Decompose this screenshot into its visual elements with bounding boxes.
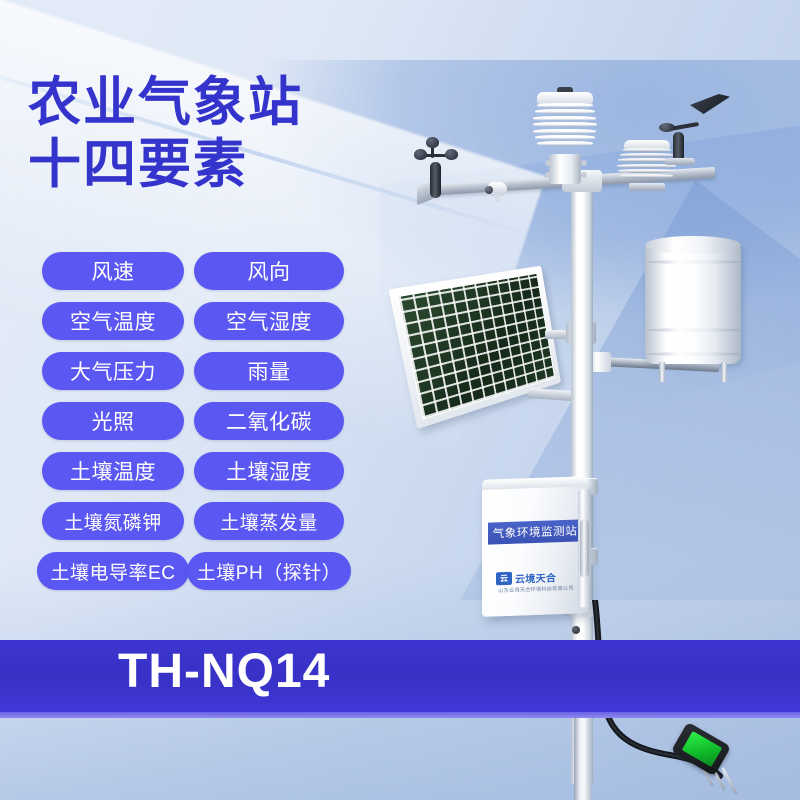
feature-tag-grid: 风速 风向 空气温度 空气湿度 大气压力 雨量 光照 二氧化碳 土壤温度 土壤湿… xyxy=(42,252,344,590)
enclosure-label-band: 气象环境监测站 xyxy=(488,519,582,544)
feature-tag-air-temperature[interactable]: 空气温度 xyxy=(42,302,184,340)
feature-tag-soil-ph[interactable]: 土壤PH（探针） xyxy=(187,552,351,590)
wind-vane-nose xyxy=(659,123,675,132)
anemometer-shaft xyxy=(430,162,441,198)
wind-vane-base xyxy=(665,158,695,165)
feature-tag-soil-npk[interactable]: 土壤氮磷钾 xyxy=(42,502,184,540)
product-poster: 气象环境监测站 云 云境天合 山东云境天合环境科技有限公司 农业气象站 十四要素… xyxy=(0,0,800,800)
brand-logo-mark: 云 xyxy=(496,571,512,585)
radiation-shield-bolt xyxy=(545,172,551,178)
enclosure-label-text: 气象环境监测站 xyxy=(493,523,578,542)
enclosure-latch xyxy=(580,519,589,577)
brand-logo: 云 云境天合 xyxy=(496,568,576,587)
anemometer-cup xyxy=(426,137,439,148)
solar-panel-icon xyxy=(399,276,569,406)
light-sensor-dome xyxy=(485,186,493,194)
model-number: TH-NQ14 xyxy=(118,644,330,699)
anemometer-cup xyxy=(414,149,427,160)
wind-vane-icon xyxy=(657,88,729,164)
radiation-shield-small-base xyxy=(629,183,665,191)
feature-tag-soil-temperature[interactable]: 土壤温度 xyxy=(42,452,184,490)
page-title-line-1: 农业气象站 xyxy=(28,73,303,132)
rain-gauge-ring xyxy=(646,352,740,356)
feature-tag-soil-evaporation[interactable]: 土壤蒸发量 xyxy=(194,502,344,540)
radiation-shield-plates xyxy=(533,103,597,155)
controller-enclosure: 气象环境监测站 云 云境天合 山东云境天合环境科技有限公司 xyxy=(482,483,588,617)
page-title-line-2: 十四要素 xyxy=(28,134,303,196)
radiation-shield-bolt xyxy=(581,172,587,178)
solar-panel-frame xyxy=(388,266,561,429)
anemometer-cup xyxy=(445,149,458,160)
brand-logo-text: 云境天合 xyxy=(515,569,556,585)
feature-tag-rainfall[interactable]: 雨量 xyxy=(194,352,344,390)
radiation-shield-bolt xyxy=(545,160,551,166)
feature-tag-air-pressure[interactable]: 大气压力 xyxy=(42,352,184,390)
radiation-shield-bolt xyxy=(581,160,587,166)
feature-tag-carbon-dioxide[interactable]: 二氧化碳 xyxy=(194,402,344,440)
rain-gauge-ring xyxy=(646,260,740,264)
feature-tag-soil-moisture[interactable]: 土壤湿度 xyxy=(194,452,344,490)
feature-tag-illuminance[interactable]: 光照 xyxy=(42,402,184,440)
feature-tag-wind-speed[interactable]: 风速 xyxy=(42,252,184,290)
rain-gauge-icon xyxy=(645,232,741,382)
page-title: 农业气象站 十四要素 xyxy=(28,72,303,196)
feature-tag-soil-ec[interactable]: 土壤电导率EC xyxy=(37,552,189,590)
rain-gauge-legs xyxy=(657,362,729,384)
radiation-shield-neck xyxy=(549,154,581,184)
enclosure-top-edge xyxy=(482,476,588,490)
rain-gauge-funnel xyxy=(645,236,741,254)
feature-tag-air-humidity[interactable]: 空气湿度 xyxy=(194,302,344,340)
rain-gauge-ring xyxy=(646,328,740,332)
soil-probe-icon xyxy=(676,732,742,784)
light-sensor-icon xyxy=(485,180,511,200)
radiation-shield-large-icon xyxy=(527,92,603,184)
light-sensor-stem xyxy=(495,194,500,202)
feature-tag-wind-direction[interactable]: 风向 xyxy=(194,252,344,290)
wind-vane-tail xyxy=(690,94,730,114)
anemometer-icon xyxy=(414,136,458,198)
